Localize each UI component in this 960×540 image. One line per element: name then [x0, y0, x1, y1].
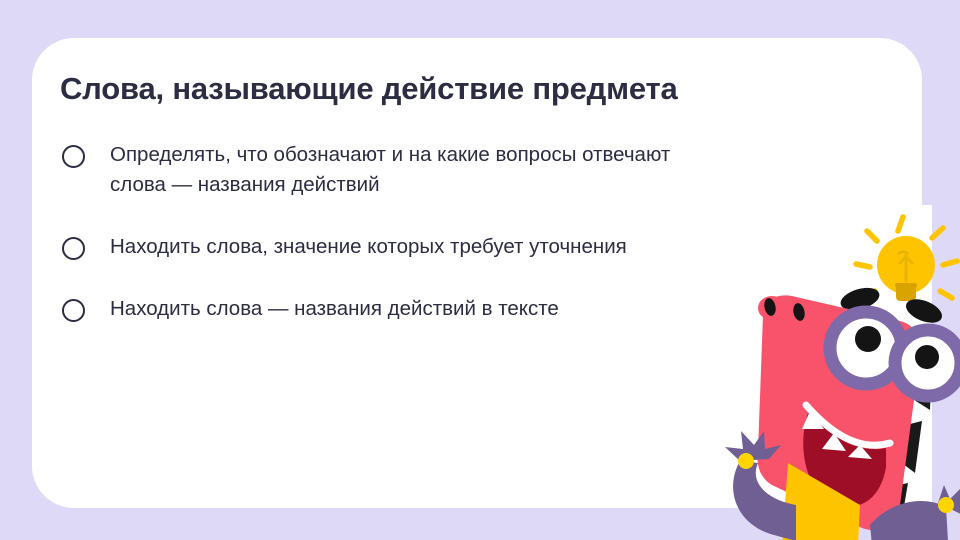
objectives-list: Определять, что обозначают и на какие во… — [60, 140, 760, 324]
circle-outline-icon — [62, 299, 85, 322]
list-item-label: Находить слова, значение которых требует… — [110, 232, 627, 262]
list-item[interactable]: Находить слова, значение которых требует… — [60, 232, 760, 262]
circle-outline-icon — [62, 237, 85, 260]
circle-outline-icon — [62, 145, 85, 168]
list-item[interactable]: Определять, что обозначают и на какие во… — [60, 140, 760, 200]
list-item-label: Определять, что обозначают и на какие во… — [110, 140, 730, 200]
content-card: Слова, называющие действие предмета Опре… — [32, 38, 922, 508]
page-title: Слова, называющие действие предмета — [60, 70, 840, 108]
list-item[interactable]: Находить слова — названия действий в тек… — [60, 294, 760, 324]
slide-root: Слова, называющие действие предмета Опре… — [0, 0, 960, 540]
list-item-label: Находить слова — названия действий в тек… — [110, 294, 559, 324]
